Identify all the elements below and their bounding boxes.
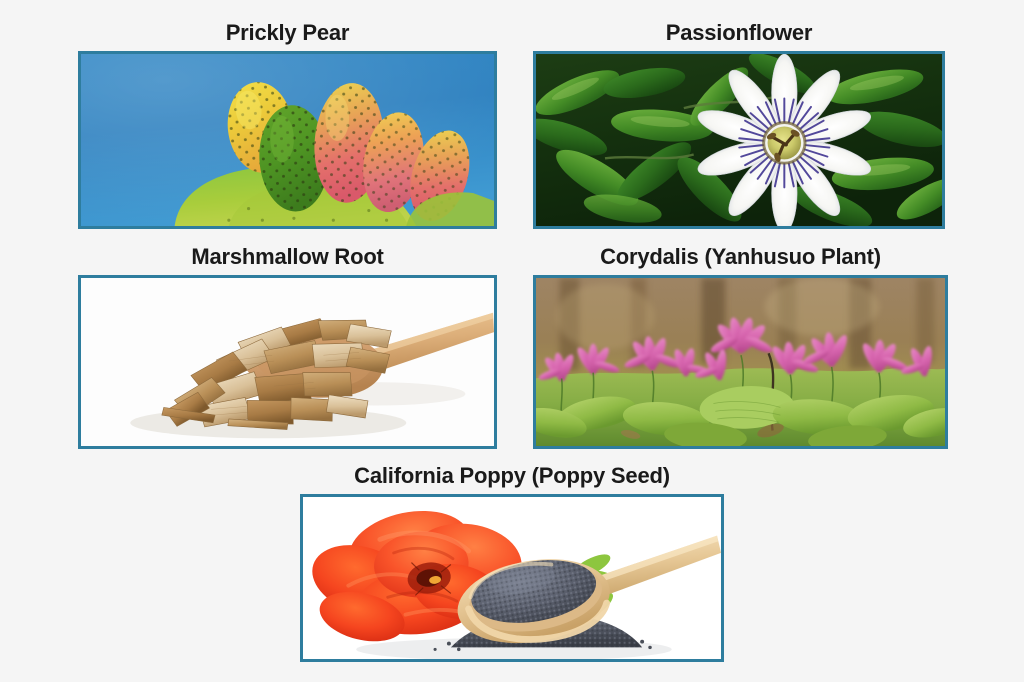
panel-label-marshmallow-root: Marshmallow Root	[78, 244, 497, 270]
marshmallow-root-photo	[81, 278, 494, 446]
photo-frame-corydalis	[533, 275, 948, 449]
panel-california-poppy: California Poppy (Poppy Seed)	[300, 463, 724, 662]
panel-corydalis: Corydalis (Yanhusuo Plant)	[533, 244, 948, 449]
plant-gallery: Prickly Pear	[0, 0, 1024, 682]
panel-label-prickly-pear: Prickly Pear	[78, 20, 497, 46]
photo-frame-california-poppy	[300, 494, 724, 662]
photo-frame-passionflower	[533, 51, 945, 229]
photo-frame-prickly-pear	[78, 51, 497, 229]
california-poppy-photo	[303, 497, 721, 659]
panel-label-passionflower: Passionflower	[533, 20, 945, 46]
panel-marshmallow-root: Marshmallow Root	[78, 244, 497, 449]
photo-frame-marshmallow-root	[78, 275, 497, 449]
prickly-pear-photo	[81, 54, 494, 226]
panel-prickly-pear: Prickly Pear	[78, 20, 497, 229]
panel-label-corydalis: Corydalis (Yanhusuo Plant)	[533, 244, 948, 270]
passionflower-photo	[536, 54, 942, 226]
panel-label-california-poppy: California Poppy (Poppy Seed)	[300, 463, 724, 489]
panel-passionflower: Passionflower	[533, 20, 945, 229]
corydalis-photo	[536, 278, 945, 446]
